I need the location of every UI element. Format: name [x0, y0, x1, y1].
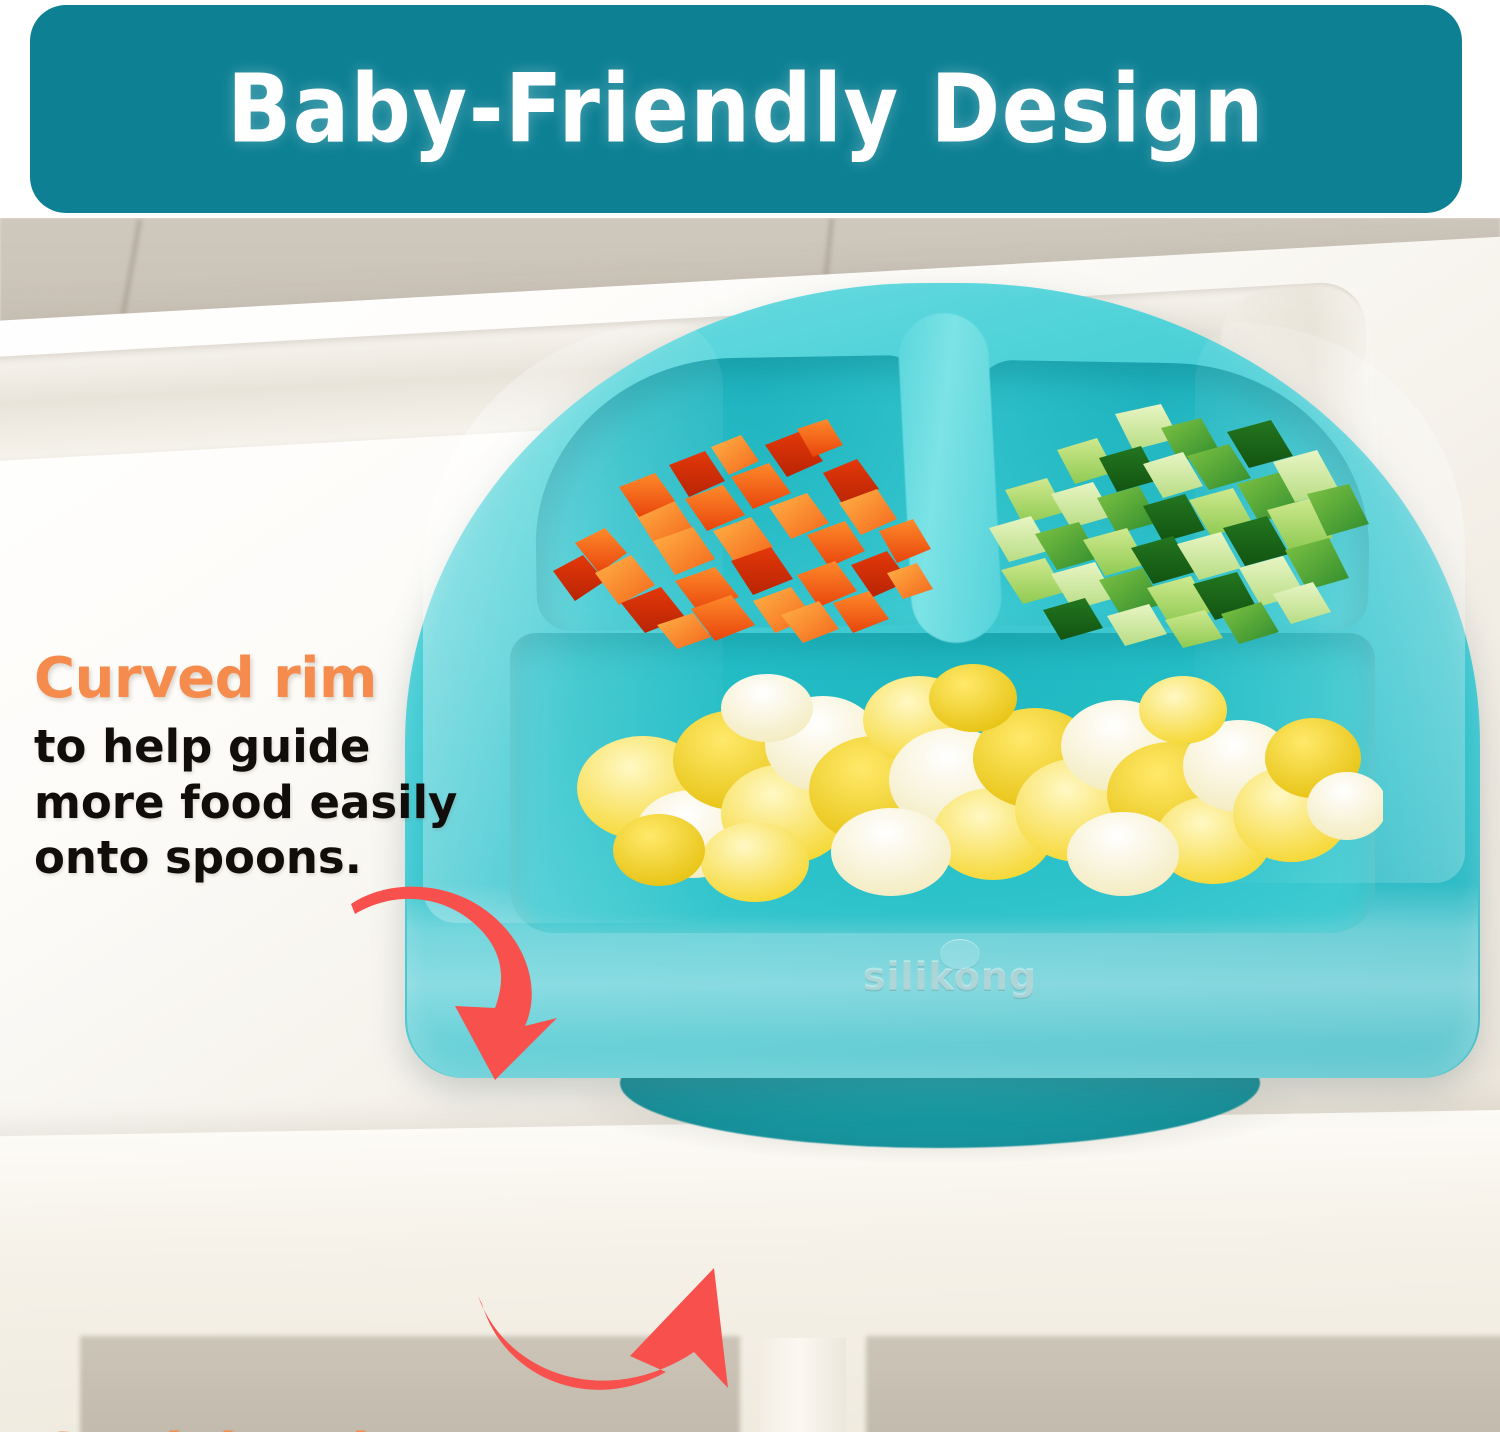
high-chair-leg: [760, 1338, 846, 1432]
cucumber-food: [965, 398, 1385, 653]
callout-straight-edge: Straight edge allows kids to belly up to…: [44, 1426, 564, 1432]
page-title: Baby-Friendly Design: [227, 54, 1265, 164]
scrambled-eggs-food: [523, 638, 1383, 928]
curved-rim-arrow: [345, 858, 595, 1088]
chair-gap-right: [866, 1336, 1500, 1432]
brand-logo: silikong: [835, 955, 1065, 1025]
header-banner: Baby-Friendly Design: [30, 5, 1462, 213]
monkey-face-icon: [940, 939, 980, 969]
callout-curved-rim-body: to help guide more food easily onto spoo…: [34, 719, 474, 886]
callout-curved-rim-line-1: to help guide: [34, 719, 474, 775]
callout-straight-edge-title: Straight edge: [44, 1426, 564, 1432]
callout-curved-rim-line-3: onto spoons.: [34, 830, 474, 886]
product-photo: silikong Curved rim to help guide more f…: [0, 218, 1500, 1432]
red-pepper-food: [535, 403, 955, 653]
callout-curved-rim-line-2: more food easily: [34, 775, 474, 831]
callout-curved-rim-title: Curved rim: [34, 650, 474, 709]
straight-edge-arrow: [470, 1238, 770, 1432]
callout-curved-rim: Curved rim to help guide more food easil…: [34, 650, 474, 886]
